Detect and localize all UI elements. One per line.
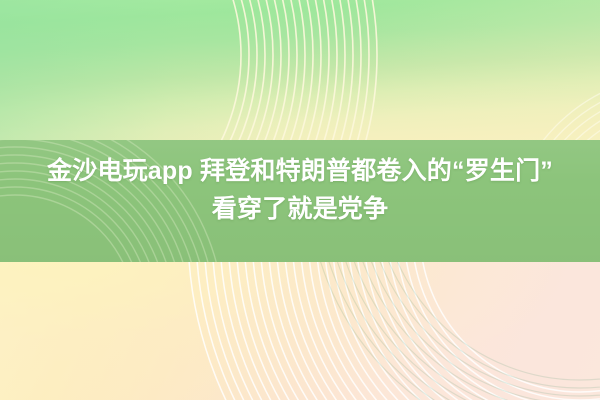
headline-line-1: 金沙电玩app 拜登和特朗普都卷入的“罗生门” bbox=[0, 152, 600, 190]
banner-headline: 金沙电玩app 拜登和特朗普都卷入的“罗生门” 看穿了就是党争 bbox=[0, 152, 600, 228]
bottom-gradient-wash bbox=[0, 262, 600, 400]
banner-bottom-gradient bbox=[0, 262, 600, 400]
banner-top-gradient bbox=[0, 0, 600, 140]
headline-line-2: 看穿了就是党争 bbox=[0, 190, 600, 228]
promo-banner: 金沙电玩app 拜登和特朗普都卷入的“罗生门” 看穿了就是党争 bbox=[0, 0, 600, 400]
top-gradient-wash bbox=[0, 0, 600, 140]
